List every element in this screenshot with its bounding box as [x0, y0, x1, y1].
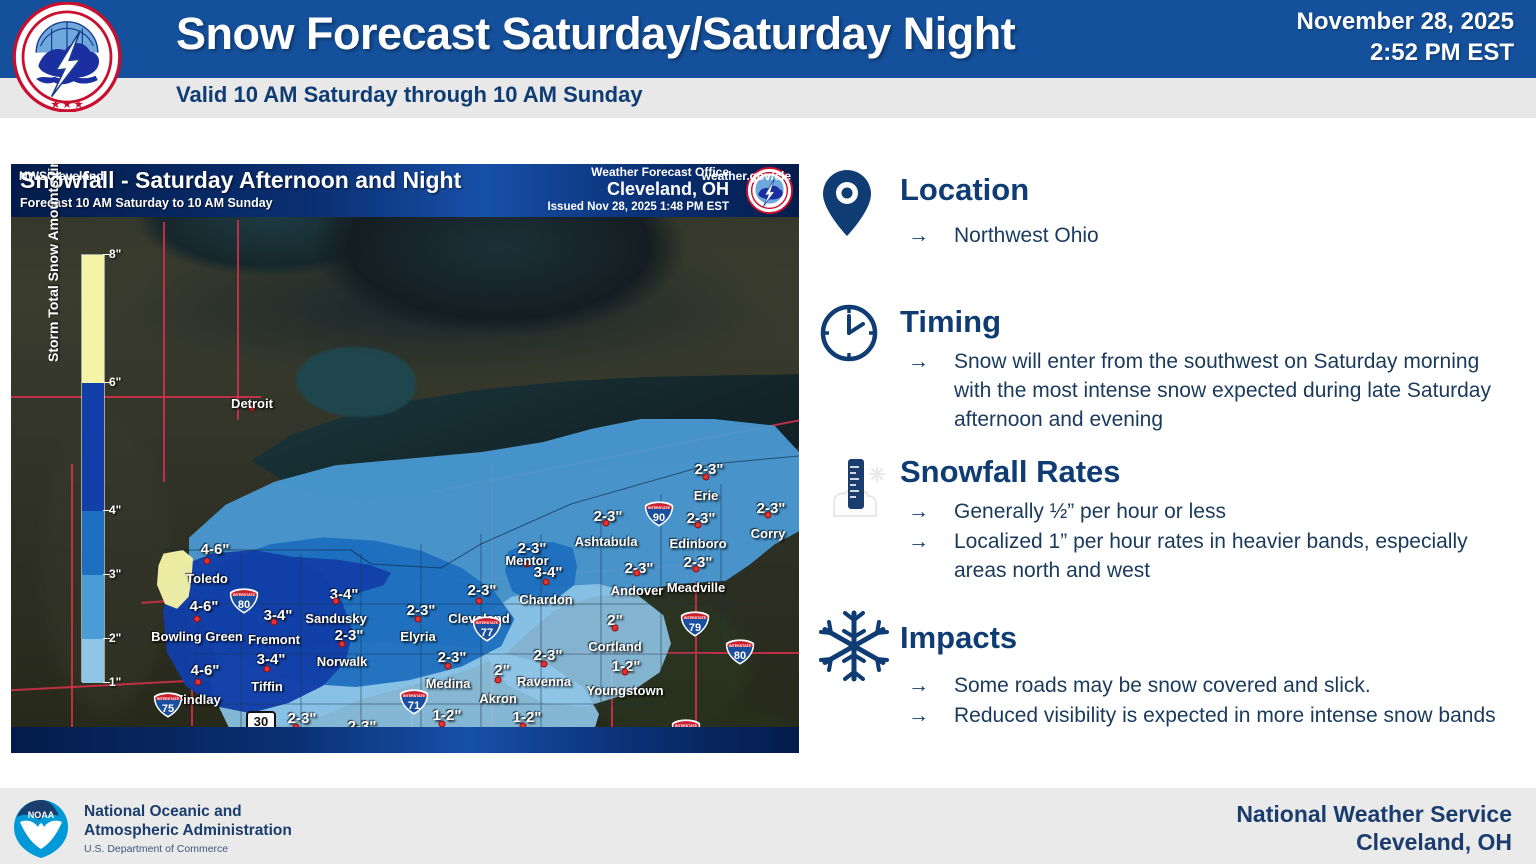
city-marker-dot: [195, 679, 202, 686]
colorbar-tick-label: 4": [109, 503, 121, 517]
city-name-label: Youngstown: [586, 683, 663, 698]
noaa-logo-icon: NOAA: [8, 798, 74, 860]
snow-amount-label: 2-3": [438, 649, 467, 666]
snow-amount-label: 1-2": [513, 709, 542, 726]
svg-text:INTERSTATE: INTERSTATE: [729, 644, 752, 648]
noaa-line-1: National Oceanic and: [84, 803, 292, 822]
interstate-shield-icon: INTERSTATE80: [725, 639, 755, 665]
snowflake-icon: [816, 608, 892, 684]
city-name-label: Erie: [694, 488, 719, 503]
section-heading-snowfall-rates: Snowfall Rates: [900, 454, 1121, 490]
city-marker-dot: [543, 579, 550, 586]
city-name-label: Tiffin: [251, 679, 283, 694]
noaa-line-2: Atmospheric Administration: [84, 822, 292, 841]
city-marker-dot: [415, 616, 422, 623]
svg-text:77: 77: [481, 627, 493, 639]
colorbar-segment-1-2: [82, 639, 104, 683]
snow-amount-label: 3-4": [264, 607, 293, 624]
bullet-text: Localized 1” per hour rates in heavier b…: [954, 528, 1508, 586]
city-name-label: Ashtabula: [575, 534, 638, 549]
thermometer-snow-icon: [820, 456, 894, 528]
page-title: Snow Forecast Saturday/Saturday Night: [176, 8, 1015, 60]
colorbar-segment-4-6: [82, 383, 104, 511]
svg-text:★ ★ ★: ★ ★ ★: [51, 100, 83, 111]
bullet-arrow-icon: →: [908, 672, 954, 701]
city-name-label: Sandusky: [305, 611, 366, 626]
city-marker-dot: [703, 474, 710, 481]
noaa-agency-text: National Oceanic and Atmospheric Adminis…: [84, 803, 292, 855]
bullet-arrow-icon: →: [908, 498, 954, 527]
map-credit-left-text: NWSCleveland: [19, 169, 104, 183]
bullet-location-0: → Northwest Ohio: [908, 222, 1508, 251]
city-name-label: Corry: [751, 526, 786, 541]
bullet-timing-0: → Snow will enter from the southwest on …: [908, 348, 1508, 435]
city-marker-dot: [634, 570, 641, 577]
city-marker-dot: [271, 619, 278, 626]
city-name-label: Akron: [479, 691, 517, 706]
city-marker-dot: [541, 661, 548, 668]
city-name-label: Norwalk: [317, 654, 368, 669]
bullet-text: Some roads may be snow covered and slick…: [954, 672, 1371, 701]
bullet-rates-0: → Generally ½” per hour or less: [908, 498, 1508, 527]
city-marker-dot: [612, 625, 619, 632]
snow-amount-label: 2-3": [468, 582, 497, 599]
svg-text:90: 90: [653, 512, 665, 524]
city-name-label: Toledo: [186, 571, 228, 586]
section-heading-timing: Timing: [900, 304, 1001, 340]
forecast-details-panel: Location → Northwest Ohio Timing → Snow …: [808, 160, 1528, 760]
svg-text:INTERSTATE: INTERSTATE: [648, 506, 671, 510]
svg-text:80: 80: [238, 599, 250, 611]
city-marker-dot: [194, 616, 201, 623]
nws-seal-icon: ★ ★ ★: [12, 2, 122, 112]
interstate-shield-icon: INTERSTATE80: [229, 588, 259, 614]
city-marker-dot: [204, 558, 211, 565]
city-name-label: Medina: [426, 676, 471, 691]
footer-office-name: Cleveland, OH: [1236, 828, 1512, 856]
colorbar-tick-label: 1": [109, 675, 121, 689]
city-marker-dot: [622, 669, 629, 676]
bullet-rates-1: → Localized 1” per hour rates in heavier…: [908, 528, 1508, 586]
colorbar-segment-2-3: [82, 575, 104, 639]
city-name-label: Cortland: [588, 639, 641, 654]
header-date-line: November 28, 2025: [1297, 6, 1514, 37]
section-heading-location: Location: [900, 172, 1029, 208]
svg-text:80: 80: [734, 650, 746, 662]
bullet-impacts-0: → Some roads may be snow covered and sli…: [908, 672, 1508, 701]
svg-text:INTERSTATE: INTERSTATE: [403, 694, 426, 698]
bullet-arrow-icon: →: [908, 222, 954, 251]
snowfall-forecast-map[interactable]: Snowfall - Saturday Afternoon and Night …: [11, 164, 799, 753]
snowfall-colorbar: Storm Total Snow Amounts (in) 8" 6" 4" 3…: [69, 254, 169, 694]
city-name-label: Andover: [611, 583, 664, 598]
city-name-label: Meadville: [667, 580, 726, 595]
bullet-text: Snow will enter from the southwest on Sa…: [954, 348, 1508, 435]
clock-icon: [818, 302, 880, 364]
svg-text:INTERSTATE: INTERSTATE: [233, 593, 256, 597]
city-marker-dot: [333, 598, 340, 605]
interstate-shield-icon: INTERSTATE77: [472, 616, 502, 642]
bullet-arrow-icon: →: [908, 702, 954, 731]
city-marker-dot: [445, 663, 452, 670]
bullet-text: Generally ½” per hour or less: [954, 498, 1226, 527]
snow-amount-label: 3-4": [257, 651, 286, 668]
svg-text:NOAA: NOAA: [28, 810, 55, 820]
colorbar-segment-6-8: [82, 255, 104, 383]
bullet-text: Northwest Ohio: [954, 222, 1099, 251]
header-time-line: 2:52 PM EST: [1297, 37, 1514, 68]
footer-agency-name: National Weather Service: [1236, 800, 1512, 828]
colorbar-tick-label: 8": [109, 247, 121, 261]
footer-office-block: National Weather Service Cleveland, OH: [1236, 800, 1512, 856]
snow-amount-label: 4-6": [190, 598, 219, 615]
bullet-impacts-1: → Reduced visibility is expected in more…: [908, 702, 1508, 731]
svg-text:75: 75: [162, 703, 174, 715]
svg-text:INTERSTATE: INTERSTATE: [157, 697, 180, 701]
city-name-label: Ravenna: [517, 674, 571, 689]
colorbar-tick-label: 3": [109, 567, 121, 581]
snow-amount-label: 1-2": [433, 707, 462, 724]
interstate-shield-icon: INTERSTATE79: [680, 611, 710, 637]
svg-text:INTERSTATE: INTERSTATE: [476, 621, 499, 625]
city-name-label: Bowling Green: [151, 629, 243, 644]
city-marker-dot: [264, 666, 271, 673]
road-line: [237, 220, 239, 420]
snow-amount-label: 4-6": [201, 541, 230, 558]
bullet-text: Reduced visibility is expected in more i…: [954, 702, 1496, 731]
city-marker-dot: [765, 512, 772, 519]
colorbar-tick-label: 2": [109, 631, 121, 645]
colorbar-segment-3-4: [82, 511, 104, 575]
interstate-shield-icon: INTERSTATE71: [399, 689, 429, 715]
map-credit-right-text: weather.gov/cle: [702, 169, 791, 183]
city-marker-dot: [695, 522, 702, 529]
city-name-label: Fremont: [248, 632, 300, 647]
noaa-department-text: U.S. Department of Commerce: [84, 843, 292, 855]
colorbar-gradient: [81, 254, 105, 682]
city-marker-dot: [339, 641, 346, 648]
colorbar-tick-label: 6": [109, 375, 121, 389]
colorbar-axis-label: Storm Total Snow Amounts (in): [45, 164, 61, 362]
map-credit-bar: [11, 727, 799, 753]
city-marker-dot: [495, 677, 502, 684]
svg-text:INTERSTATE: INTERSTATE: [684, 616, 707, 620]
city-name-label: Edinboro: [669, 536, 726, 551]
city-name-label: Elyria: [400, 629, 435, 644]
svg-text:79: 79: [689, 622, 701, 634]
valid-period-text: Valid 10 AM Saturday through 10 AM Sunda…: [176, 82, 643, 108]
bullet-arrow-icon: →: [908, 528, 954, 557]
snow-amount-label: 2-3": [534, 647, 563, 664]
city-name-label: Chardon: [519, 592, 572, 607]
city-name-label: Detroit: [231, 396, 273, 411]
city-marker-dot: [476, 598, 483, 605]
map-issued-text: Issued Nov 28, 2025 1:48 PM EST: [547, 200, 729, 214]
city-marker-dot: [693, 566, 700, 573]
bullet-arrow-icon: →: [908, 348, 954, 377]
section-heading-impacts: Impacts: [900, 620, 1017, 656]
location-pin-icon: [816, 168, 878, 238]
svg-text:71: 71: [408, 700, 420, 712]
header-timestamp: November 28, 2025 2:52 PM EST: [1297, 6, 1514, 68]
interstate-shield-icon: INTERSTATE90: [644, 501, 674, 527]
city-marker-dot: [603, 520, 610, 527]
snow-amount-label: 4-6": [191, 662, 220, 679]
interstate-shield-icon: INTERSTATE75: [153, 692, 183, 718]
